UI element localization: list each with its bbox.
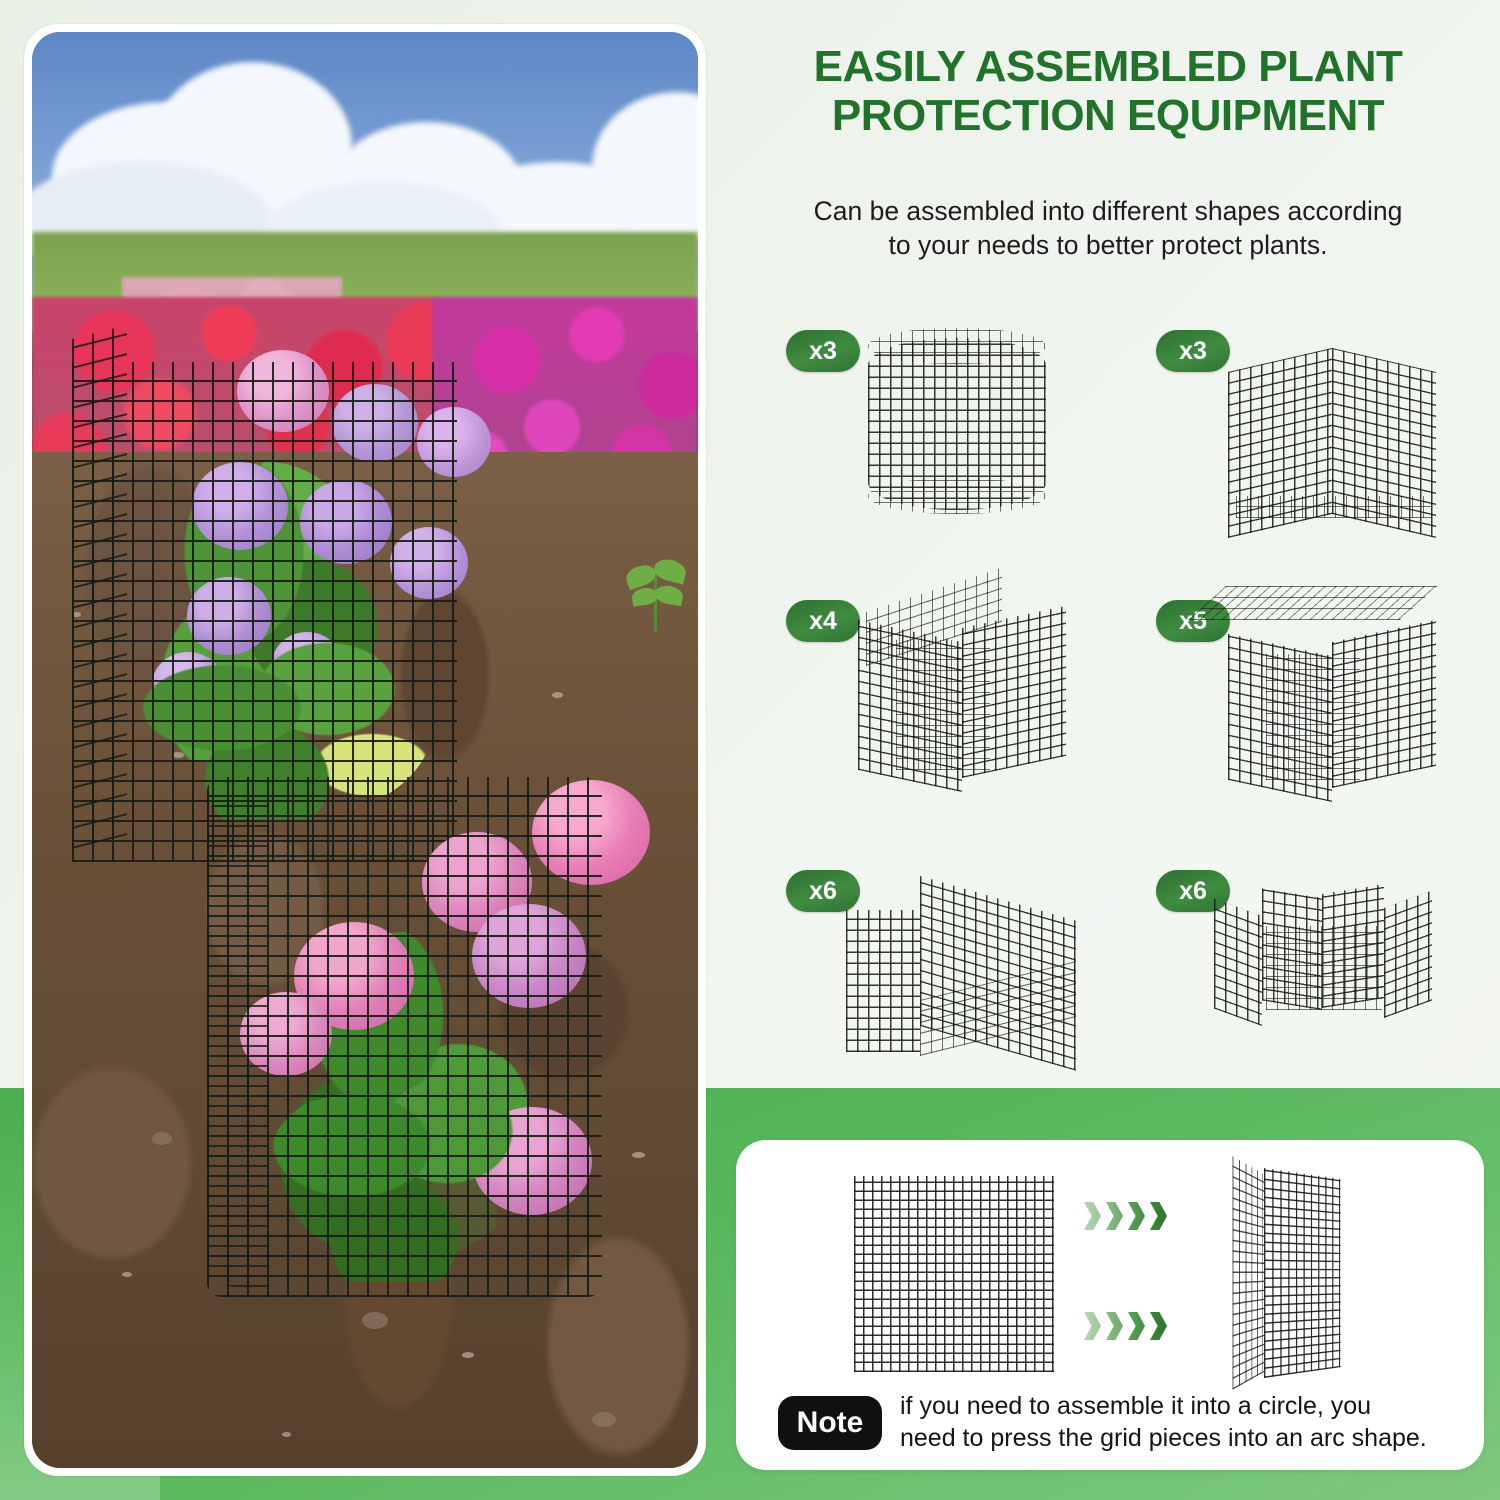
- hexagonal-enclosure-illustration: [1206, 850, 1478, 1104]
- shape-option-closed-box-with-lid[interactable]: x5: [1114, 570, 1484, 840]
- hero-photo: [32, 32, 698, 1468]
- shape-option-hexagonal-enclosure[interactable]: x6: [1114, 840, 1484, 1110]
- cylinder-cage-illustration: [836, 310, 1108, 564]
- chevron-icon: [1150, 1312, 1167, 1340]
- chevron-arrow-top: [1084, 1202, 1170, 1230]
- hero-photo-frame: [24, 24, 706, 1476]
- note-text-line-1: if you need to assemble it into a circle…: [900, 1391, 1468, 1423]
- note-text: if you need to assemble it into a circle…: [900, 1391, 1468, 1454]
- lid-panel: [1188, 586, 1438, 620]
- subtitle-line-1: Can be assembled into different shapes a…: [736, 195, 1480, 229]
- chevron-icon: [1150, 1202, 1167, 1230]
- page-subtitle: Can be assembled into different shapes a…: [736, 195, 1480, 263]
- flat-grid-panel-illustration: [854, 1176, 1054, 1372]
- corner-panel-cage-illustration: [1206, 310, 1478, 564]
- note-card: Note if you need to assemble it into a c…: [736, 1140, 1484, 1470]
- chevron-icon: [1084, 1202, 1101, 1230]
- shape-option-corner-panel-cage[interactable]: x3: [1114, 300, 1484, 570]
- shape-options-grid: x3 x3 x4: [744, 300, 1484, 1110]
- note-text-line-2: need to press the grid pieces into an ar…: [900, 1423, 1468, 1455]
- note-badge: Note: [778, 1396, 882, 1450]
- note-row: Note if you need to assemble it into a c…: [778, 1392, 1468, 1456]
- page-title: EASILY ASSEMBLED PLANT PROTECTION EQUIPM…: [726, 42, 1490, 141]
- open-top-box-cage-illustration: [836, 580, 1108, 834]
- chevron-icon: [1128, 1312, 1145, 1340]
- shape-option-open-top-box-cage[interactable]: x4: [744, 570, 1114, 840]
- long-rectangular-cage-illustration: [836, 850, 1108, 1104]
- chevron-icon: [1084, 1312, 1101, 1340]
- shape-option-long-rectangular-cage[interactable]: x6: [744, 840, 1114, 1110]
- infographic-page: EASILY ASSEMBLED PLANT PROTECTION EQUIPM…: [0, 0, 1500, 1500]
- round-mesh-cage: [207, 777, 602, 1297]
- small-seedling: [622, 552, 692, 632]
- chevron-icon: [1106, 1202, 1123, 1230]
- chevron-arrow-bottom: [1084, 1312, 1170, 1340]
- title-line-1: EASILY ASSEMBLED PLANT: [726, 42, 1490, 91]
- title-line-2: PROTECTION EQUIPMENT: [726, 91, 1490, 140]
- right-column: EASILY ASSEMBLED PLANT PROTECTION EQUIPM…: [716, 0, 1500, 1500]
- curved-arc-panel-illustration: [1206, 1168, 1356, 1378]
- shape-option-cylinder-cage[interactable]: x3: [744, 300, 1114, 570]
- closed-box-with-lid-illustration: [1206, 580, 1478, 834]
- chevron-icon: [1128, 1202, 1145, 1230]
- subtitle-line-2: to your needs to better protect plants.: [736, 229, 1480, 263]
- chevron-icon: [1106, 1312, 1123, 1340]
